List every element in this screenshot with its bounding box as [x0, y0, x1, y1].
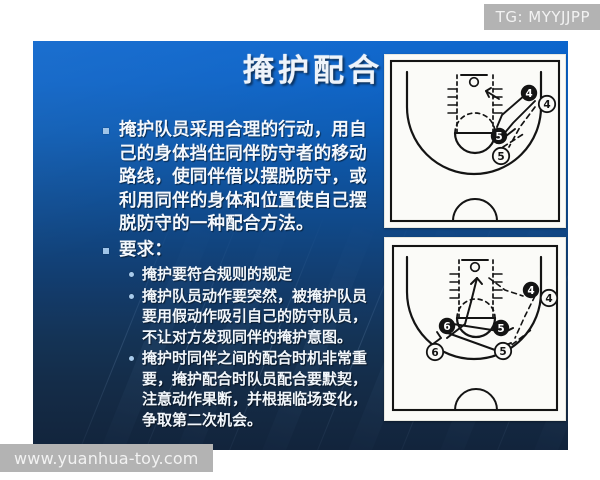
svg-text:6: 6 [431, 347, 438, 359]
sub-bullet-text: 掩护要符合规则的规定 [142, 264, 292, 285]
svg-text:5: 5 [497, 323, 504, 335]
round-bullet-icon [129, 294, 134, 299]
screenshot-canvas: 掩护配合 掩护队员采用合理的行动，用自己的身体挡住同伴防守者的移动路线，使同伴借… [0, 0, 600, 480]
court-illustration-bottom: 4 4 5 5 6 [385, 238, 565, 420]
player-marker-5-filled: 5 [491, 128, 507, 144]
player-marker-4-outlined: 4 [541, 290, 557, 306]
list-item: 掩护要符合规则的规定 [129, 264, 378, 285]
svg-text:5: 5 [497, 151, 504, 163]
player-marker-6-outlined: 6 [427, 344, 443, 360]
list-item: 掩护时同伴之间的配合时机非常重要，掩护配合时队员配合要默契，注意动作果断，并根据… [129, 348, 378, 430]
player-marker-5-filled: 5 [493, 320, 509, 336]
basketball-diagram-top: 4 4 5 5 [384, 54, 566, 228]
round-bullet-icon [129, 272, 134, 277]
player-marker-5-outlined: 5 [493, 148, 509, 164]
bullet-text: 要求： [119, 239, 172, 263]
list-item: 掩护队员动作要突然，被掩护队员要用假动作吸引自己的防守队员，不让对方发现同伴的掩… [129, 286, 378, 348]
player-marker-4-filled: 4 [521, 85, 537, 101]
player-marker-5-outlined: 5 [495, 343, 511, 359]
watermark-bottom-left: www.yuanhua-toy.com [0, 444, 213, 472]
svg-text:4: 4 [543, 99, 550, 111]
court-illustration-top: 4 4 5 5 [385, 55, 565, 227]
square-bullet-icon [103, 128, 109, 134]
watermark-top-right: TG: MYYJJPP [484, 4, 600, 30]
watermark-top-text: TG: MYYJJPP [496, 8, 590, 26]
round-bullet-icon [129, 356, 134, 361]
svg-text:4: 4 [527, 285, 534, 297]
player-marker-4-filled: 4 [523, 282, 539, 298]
page-title: 掩护配合 [243, 45, 383, 90]
slide-body: 掩护队员采用合理的行动，用自己的身体挡住同伴防守者的移动路线，使同伴借以摆脱防守… [103, 119, 378, 431]
bullet-text: 掩护队员采用合理的行动，用自己的身体挡住同伴防守者的移动路线，使同伴借以摆脱防守… [119, 119, 378, 237]
svg-text:5: 5 [499, 346, 506, 358]
watermark-bottom-text: www.yuanhua-toy.com [14, 449, 199, 468]
svg-text:4: 4 [545, 293, 552, 305]
basketball-diagram-bottom: 4 4 5 5 6 [384, 237, 566, 421]
bullet-item: 掩护队员采用合理的行动，用自己的身体挡住同伴防守者的移动路线，使同伴借以摆脱防守… [103, 119, 378, 237]
sub-bullet-text: 掩护队员动作要突然，被掩护队员要用假动作吸引自己的防守队员，不让对方发现同伴的掩… [142, 286, 378, 348]
svg-text:4: 4 [525, 88, 532, 100]
square-bullet-icon [103, 248, 109, 254]
player-marker-4-outlined: 4 [539, 96, 555, 112]
presentation-slide: 掩护配合 掩护队员采用合理的行动，用自己的身体挡住同伴防守者的移动路线，使同伴借… [33, 41, 568, 450]
bullet-item: 要求： [103, 239, 378, 263]
player-marker-6-filled: 6 [439, 318, 455, 334]
svg-text:5: 5 [495, 131, 502, 143]
sub-bullet-text: 掩护时同伴之间的配合时机非常重要，掩护配合时队员配合要默契，注意动作果断，并根据… [142, 348, 378, 430]
sub-bullet-list: 掩护要符合规则的规定 掩护队员动作要突然，被掩护队员要用假动作吸引自己的防守队员… [129, 264, 378, 430]
svg-text:6: 6 [443, 321, 450, 333]
